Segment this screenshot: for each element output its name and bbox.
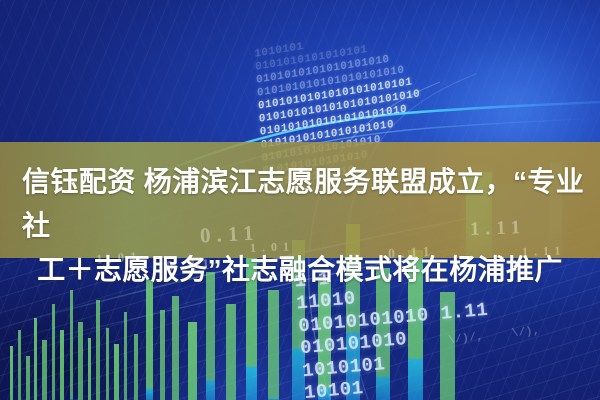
green-bar [26,356,30,400]
green-bar [88,338,91,400]
green-bar [60,330,64,400]
green-bar [440,292,455,400]
cover-image: 1010101010101010101010101010101010101010… [0,0,600,400]
headline-line-1: 信钰配资 杨浦滨江志愿服务联盟成立，“专业社 [14,160,586,248]
green-bar [114,344,119,400]
green-bar [18,330,21,400]
green-bar [96,300,100,400]
green-bar [78,322,83,400]
green-bar [188,322,197,400]
green-bar [172,296,179,400]
green-bar [42,340,47,400]
headline: 信钰配资 杨浦滨江志愿服务联盟成立，“专业社 工＋志愿服务”社志融合模式将在杨浦… [0,160,600,292]
green-bar [106,328,109,400]
green-bar [134,334,138,400]
green-bar [70,290,73,400]
green-bar [34,318,37,400]
green-bar [124,312,127,400]
headline-line-2: 工＋志愿服务”社志融合模式将在杨浦推广 [14,248,586,292]
green-bar [318,280,331,400]
green-bar [268,290,279,400]
green-bar [52,304,55,400]
green-bar [226,304,236,400]
green-bar [146,280,153,400]
green-bar [10,346,13,400]
green-bar [160,310,165,400]
